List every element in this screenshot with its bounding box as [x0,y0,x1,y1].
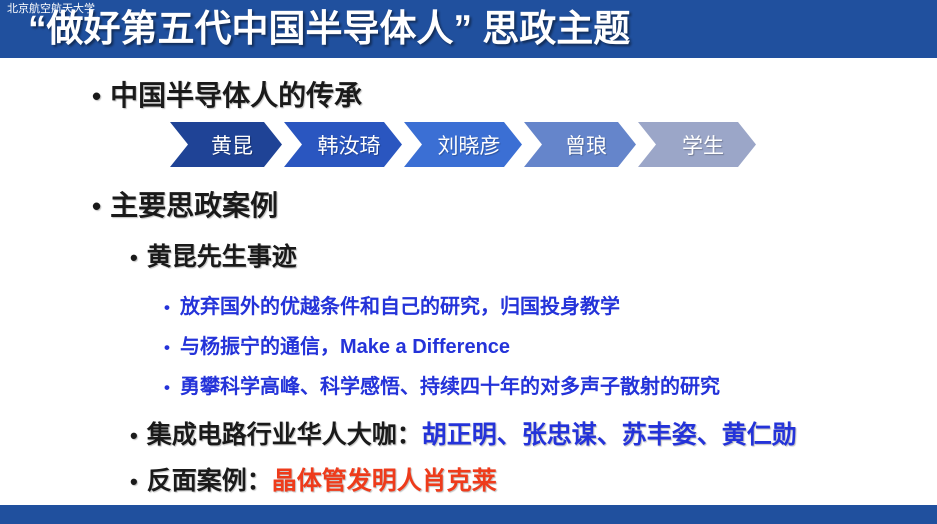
detail-item-3: • 勇攀科学高峰、科学感悟、持续四十年的对多声子散射的研究 [164,370,720,399]
bullet-glyph-icon: • [164,299,170,316]
heritage-chevron-chain: 黄昆 韩汝琦 刘晓彦 曾琅 学生 [170,122,758,167]
detail-item-2-label: 与杨振宁的通信，Make a Difference [180,330,510,359]
chevron-item-5[interactable]: 学生 [638,122,756,167]
detail-item-3-label: 勇攀科学高峰、科学感悟、持续四十年的对多声子散射的研究 [180,370,720,399]
chevron-label-4: 曾琅 [565,130,607,160]
chevron-item-1[interactable]: 黄昆 [170,122,282,167]
heading-cases: • 主要思政案例 [92,184,278,224]
bullet-glyph-icon: • [164,339,170,356]
subheading-huangkun: • 黄昆先生事迹 [130,237,297,273]
chevron-item-3[interactable]: 刘晓彦 [404,122,522,167]
subheading-negative-case-label: 反面案例： [147,461,272,497]
page-title: “做好第五代中国半导体人” 思政主题 [28,3,630,55]
detail-item-2: • 与杨振宁的通信，Make a Difference [164,330,510,359]
slide-content-area: • 中国半导体人的传承 黄昆 韩汝琦 刘晓彦 曾琅 学生 • 主要思政案例 • … [0,58,937,505]
bullet-glyph-icon: • [130,247,138,269]
industry-figures-names: 胡正明、张忠谋、苏丰姿、黄仁勋 [422,415,797,451]
heading-heritage: • 中国半导体人的传承 [92,74,362,114]
bullet-glyph-icon: • [92,83,101,109]
chevron-item-2[interactable]: 韩汝琦 [284,122,402,167]
chevron-label-1: 黄昆 [211,130,253,160]
slide-footer-bar [0,505,937,524]
subheading-huangkun-label: 黄昆先生事迹 [147,237,297,273]
negative-case-name: 晶体管发明人肖克莱 [272,461,497,497]
subheading-industry-figures-label: 集成电路行业华人大咖： [147,415,422,451]
detail-item-1-label: 放弃国外的优越条件和自己的研究，归国投身教学 [180,290,620,319]
subheading-negative-case: • 反面案例： 晶体管发明人肖克莱 [130,461,497,497]
chevron-label-5: 学生 [682,130,724,160]
bullet-glyph-icon: • [92,193,101,219]
detail-item-1: • 放弃国外的优越条件和自己的研究，归国投身教学 [164,290,620,319]
heading-cases-label: 主要思政案例 [110,184,278,224]
footer-institution-label: 北京航空航天大学 [7,2,95,17]
bullet-glyph-icon: • [164,379,170,396]
chevron-label-3: 刘晓彦 [438,130,501,160]
chevron-item-4[interactable]: 曾琅 [524,122,636,167]
bullet-glyph-icon: • [130,425,138,447]
heading-heritage-label: 中国半导体人的传承 [110,74,362,114]
bullet-glyph-icon: • [130,471,138,493]
chevron-label-2: 韩汝琦 [318,130,381,160]
subheading-industry-figures: • 集成电路行业华人大咖： 胡正明、张忠谋、苏丰姿、黄仁勋 [130,415,797,451]
